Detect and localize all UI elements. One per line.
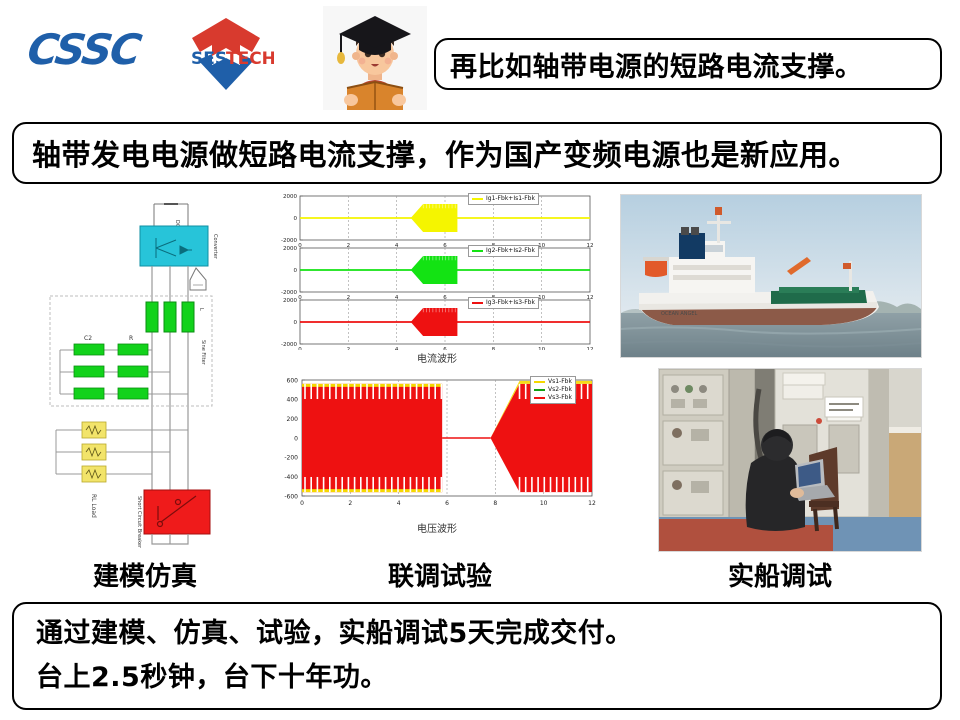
converter-block: [140, 226, 208, 266]
legend-swatch-ig1: [472, 198, 483, 200]
cssc-logo-text: CSSC: [24, 24, 171, 76]
cssc-logo: CSSC: [28, 24, 168, 76]
legend-swatch-vs1: [534, 381, 545, 383]
caption-ship-commissioning: 实船调试: [640, 556, 920, 593]
legend-swatch-vs3: [534, 397, 545, 399]
voltage-waveform-chart: -600-400-2000200400600024681012 Vs1-Fbk …: [272, 372, 602, 520]
top-callout-text: 再比如轴带电源的短路电流支撑。: [450, 45, 863, 84]
current-waveform-chart: -200002000024681012-200002000024681012-2…: [272, 190, 602, 350]
rl-load-label: RL Load: [90, 494, 97, 518]
caption-row: 建模仿真 联调试验 实船调试: [0, 556, 960, 598]
top-callout-box: 再比如轴带电源的短路电流支撑。: [434, 38, 942, 90]
circuit-diagram-panel: DC Bus Converter: [30, 190, 270, 550]
svg-text:0: 0: [294, 320, 298, 326]
graduate-student-reading-icon: [323, 6, 427, 110]
svg-text:200: 200: [287, 416, 299, 423]
converter-label: Converter: [212, 234, 218, 260]
bottom-callout-line1: 通过建模、仿真、试验，实船调试5天完成交付。: [36, 612, 633, 656]
legend-ig1: Ig1-Fbk+Is1-Fbk: [468, 193, 539, 205]
svg-text:400: 400: [287, 397, 299, 404]
waveform-charts-panel: -200002000024681012-200002000024681012-2…: [272, 190, 602, 540]
svg-text:10: 10: [540, 500, 548, 507]
svg-text:8: 8: [493, 500, 497, 507]
legend-swatch-ig3: [472, 302, 483, 304]
svg-text:4: 4: [397, 500, 401, 507]
capacitor-label: C2: [84, 335, 92, 342]
onboard-commissioning-photo: [658, 368, 922, 552]
ship-hull-name: OCEAN ANGEL: [661, 311, 698, 317]
photos-panel: OCEAN ANGEL: [612, 190, 932, 550]
svg-text:0: 0: [294, 216, 298, 222]
voltage-chart-caption: 电压波形: [272, 520, 602, 535]
svg-text:2000: 2000: [283, 246, 297, 252]
ship-at-sea-photo: OCEAN ANGEL: [620, 194, 922, 358]
bottom-callout-box: 通过建模、仿真、试验，实船调试5天完成交付。 台上2.5秒钟，台下十年功。: [12, 602, 942, 710]
banner-callout-text: 轴带发电电源做短路电流支撑，作为国产变频电源也是新应用。: [32, 132, 858, 174]
svg-text:0: 0: [294, 268, 298, 274]
legend-label-vs1: Vs1-Fbk: [548, 378, 572, 386]
legend-ig3: Ig3-Fbk+Is3-Fbk: [468, 297, 539, 309]
caption-joint-test: 联调试验: [300, 556, 580, 593]
filter-resistor-group: [118, 344, 148, 399]
legend-label-vs3: Vs3-Fbk: [548, 394, 572, 402]
svg-text:-2000: -2000: [281, 238, 297, 244]
filter-capacitor-group: [74, 344, 104, 399]
svg-text:6: 6: [445, 500, 449, 507]
sine-filter-label: Sine Filter: [200, 340, 206, 366]
legend-voltage: Vs1-Fbk Vs2-Fbk Vs3-Fbk: [530, 376, 576, 404]
svg-text:-200: -200: [284, 455, 298, 462]
legend-label-ig1: Ig1-Fbk+Is1-Fbk: [486, 195, 535, 203]
svg-text:0: 0: [294, 435, 298, 442]
short-circuit-breaker-block: [144, 490, 210, 534]
legend-label-ig2: Ig2-Fbk+Is2-Fbk: [486, 247, 535, 255]
svg-text:-400: -400: [284, 474, 298, 481]
resistor-label: R: [129, 335, 133, 342]
inductor-group: [146, 302, 194, 332]
rl-load-group: [82, 422, 106, 482]
svg-text:2: 2: [348, 500, 352, 507]
legend-label-ig3: Ig3-Fbk+Is3-Fbk: [486, 299, 535, 307]
banner-callout-box: 轴带发电电源做短路电流支撑，作为国产变频电源也是新应用。: [12, 122, 942, 184]
sestech-text-tech: TECH: [226, 49, 274, 69]
legend-swatch-ig2: [472, 250, 483, 252]
svg-text:600: 600: [287, 377, 299, 384]
svg-text:2000: 2000: [283, 194, 297, 200]
svg-text:12: 12: [588, 500, 596, 507]
current-chart-caption: 电流波形: [272, 350, 602, 365]
svg-text:-2000: -2000: [281, 342, 297, 348]
legend-ig2: Ig2-Fbk+Is2-Fbk: [468, 245, 539, 257]
svg-text:2000: 2000: [283, 298, 297, 304]
bottom-callout-line2: 台上2.5秒钟，台下十年功。: [36, 656, 388, 700]
caption-modeling-simulation: 建模仿真: [20, 556, 270, 593]
svg-text:0: 0: [300, 500, 304, 507]
svg-text:-2000: -2000: [281, 290, 297, 296]
legend-swatch-vs2: [534, 389, 545, 391]
inductor-label: L: [198, 308, 204, 311]
circuit-diagram: DC Bus Converter: [30, 190, 270, 550]
sestech-text-ses: SES: [191, 49, 227, 69]
sestech-logo: SES TECH: [178, 12, 274, 96]
slide-root: CSSC SES TECH: [0, 0, 960, 720]
breaker-label: Short Circuit Breaker: [136, 496, 142, 549]
svg-text:-600: -600: [284, 493, 298, 500]
legend-label-vs2: Vs2-Fbk: [548, 386, 572, 394]
